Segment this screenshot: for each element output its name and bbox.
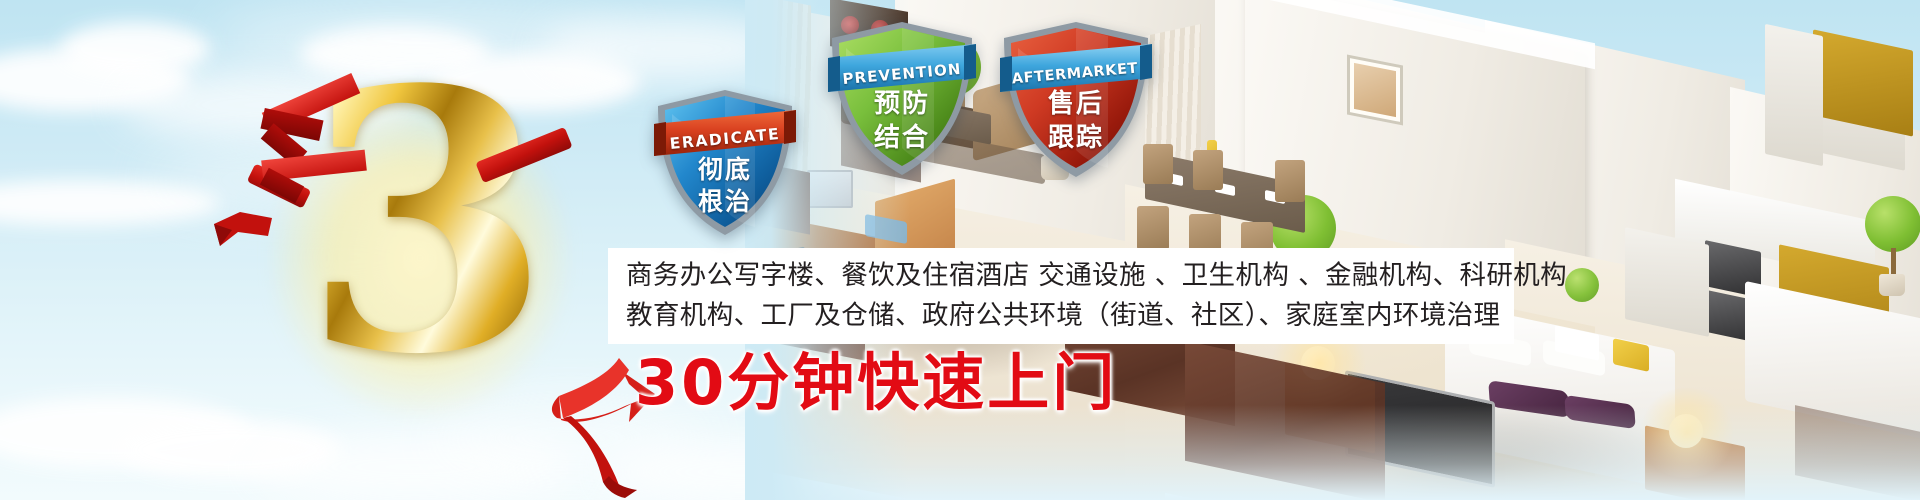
ribbon-tail: [210, 196, 300, 266]
scope-line-2: 教育机构、工厂及仓储、政府公共环境（街道、社区）、家庭室内环境治理: [626, 296, 1514, 336]
shield-chinese-line2: 根治: [652, 188, 798, 216]
promo-banner: 3: [0, 0, 1920, 500]
shield-chinese-line1: 彻底: [652, 156, 798, 184]
service-scope-panel: 商务办公写字楼、餐饮及住宿酒店 交通设施 、卫生机构 、金融机构、科研机构 教育…: [608, 248, 1514, 344]
shield-chinese-line2: 跟踪: [998, 124, 1154, 153]
gold-number-three: 3: [262, 92, 592, 422]
shield-prevention[interactable]: PREVENTION 预防 结合: [826, 20, 978, 178]
shield-chinese-line1: 售后: [998, 90, 1154, 119]
shield-chinese-line2: 结合: [826, 124, 978, 153]
shield-eradicate[interactable]: ERADICATE 彻底 根治: [652, 88, 798, 238]
shield-chinese-line1: 预防: [826, 90, 978, 119]
scope-line-1: 商务办公写字楼、餐饮及住宿酒店 交通设施 、卫生机构 、金融机构、科研机构: [626, 256, 1514, 296]
shield-aftermarket[interactable]: AFTERMARKET 售后 跟踪: [998, 20, 1154, 180]
headline-text: 30分钟快速上门: [635, 352, 1117, 414]
